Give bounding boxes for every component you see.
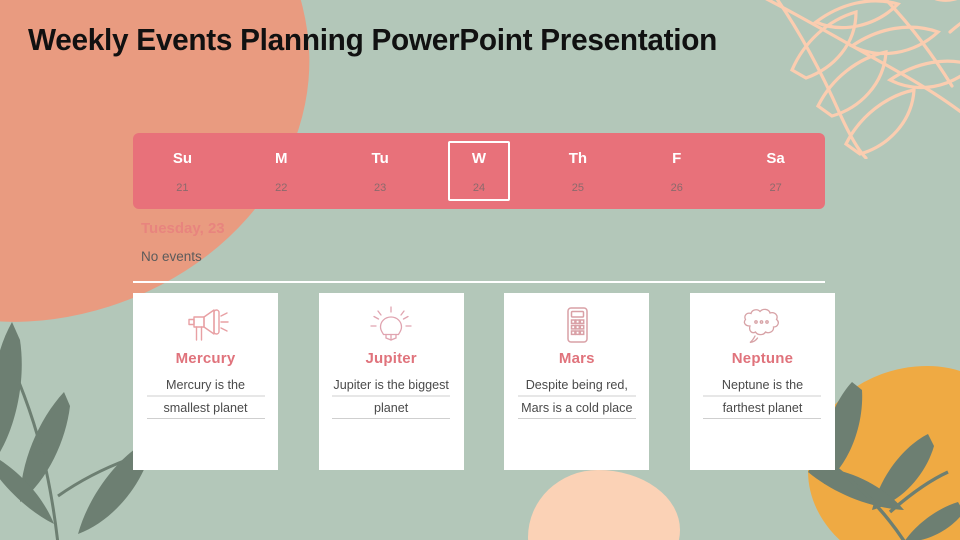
day-number-label: 26 bbox=[671, 183, 683, 194]
card-title: Neptune bbox=[732, 350, 793, 367]
day-number-label: 27 bbox=[769, 183, 781, 194]
day-cell-th[interactable]: Th 25 bbox=[528, 133, 627, 209]
selected-day-outline bbox=[448, 141, 510, 201]
section-divider bbox=[133, 281, 825, 283]
day-cell-tu[interactable]: Tu 23 bbox=[331, 133, 430, 209]
card-body-text: Neptune is the farthest planet bbox=[703, 374, 821, 419]
card-body-text: Despite being red, Mars is a cold place bbox=[518, 374, 636, 419]
info-card-neptune[interactable]: Neptune Neptune is the farthest planet bbox=[690, 293, 835, 470]
day-of-week-label: Sa bbox=[766, 151, 784, 166]
day-cell-sa[interactable]: Sa 27 bbox=[726, 133, 825, 209]
day-of-week-label: Th bbox=[569, 151, 587, 166]
day-number-label: 23 bbox=[374, 183, 386, 194]
week-calendar-bar[interactable]: Su 21 M 22 Tu 23 W 24 Th 25 F 26 Sa 27 bbox=[133, 133, 825, 209]
day-of-week-label: F bbox=[672, 151, 681, 166]
day-cell-f[interactable]: F 26 bbox=[627, 133, 726, 209]
megaphone-icon bbox=[183, 306, 229, 344]
day-cell-su[interactable]: Su 21 bbox=[133, 133, 232, 209]
page-title: Weekly Events Planning PowerPoint Presen… bbox=[28, 22, 717, 58]
card-body-text: Jupiter is the biggest planet bbox=[332, 374, 450, 419]
day-events-status: No events bbox=[141, 249, 202, 264]
day-cell-m[interactable]: M 22 bbox=[232, 133, 331, 209]
card-title: Mercury bbox=[176, 350, 236, 367]
lightbulb-icon bbox=[368, 306, 414, 344]
thought-bubble-icon bbox=[739, 306, 785, 344]
info-card-row: Mercury Mercury is the smallest planet J… bbox=[133, 293, 835, 470]
info-card-mars[interactable]: Mars Despite being red, Mars is a cold p… bbox=[504, 293, 649, 470]
day-number-label: 25 bbox=[572, 183, 584, 194]
day-number-label: 22 bbox=[275, 183, 287, 194]
day-of-week-label: M bbox=[275, 151, 288, 166]
slide-canvas: Weekly Events Planning PowerPoint Presen… bbox=[0, 0, 960, 540]
selected-day-heading: Tuesday, 23 bbox=[141, 220, 225, 237]
day-of-week-label: Su bbox=[173, 151, 192, 166]
card-title: Jupiter bbox=[365, 350, 416, 367]
peach-blob-decoration bbox=[528, 470, 680, 540]
card-body-text: Mercury is the smallest planet bbox=[147, 374, 265, 419]
day-cell-w-selected[interactable]: W 24 bbox=[430, 133, 529, 209]
info-card-jupiter[interactable]: Jupiter Jupiter is the biggest planet bbox=[319, 293, 464, 470]
calculator-icon bbox=[554, 306, 600, 344]
day-number-label: 21 bbox=[176, 183, 188, 194]
day-of-week-label: Tu bbox=[372, 151, 389, 166]
info-card-mercury[interactable]: Mercury Mercury is the smallest planet bbox=[133, 293, 278, 470]
card-title: Mars bbox=[559, 350, 595, 367]
